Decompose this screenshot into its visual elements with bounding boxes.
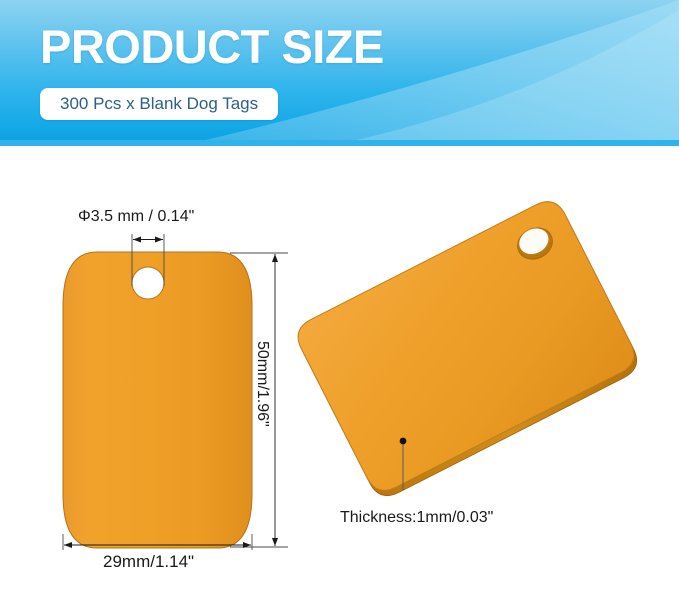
- product-dimension-diagram: Φ3.5 mm / 0.14" 50mm/1.96" 29mm/1.14" Th…: [0, 146, 679, 597]
- height-dimension-label: 50mm/1.96": [253, 341, 271, 427]
- width-dimension-label: 29mm/1.14": [103, 552, 194, 572]
- hole-diameter-label: Φ3.5 mm / 0.14": [78, 208, 194, 226]
- product-quantity-badge: 300 Pcs x Blank Dog Tags: [40, 88, 278, 120]
- product-quantity-badge-label: 300 Pcs x Blank Dog Tags: [60, 94, 258, 114]
- product-size-banner: PRODUCT SIZE 300 Pcs x Blank Dog Tags: [0, 0, 679, 146]
- thickness-label: Thickness:1mm/0.03": [340, 509, 493, 527]
- banner-title: PRODUCT SIZE: [40, 19, 384, 75]
- tilted-perspective-view: [291, 195, 643, 502]
- flat-front-view: [63, 252, 252, 548]
